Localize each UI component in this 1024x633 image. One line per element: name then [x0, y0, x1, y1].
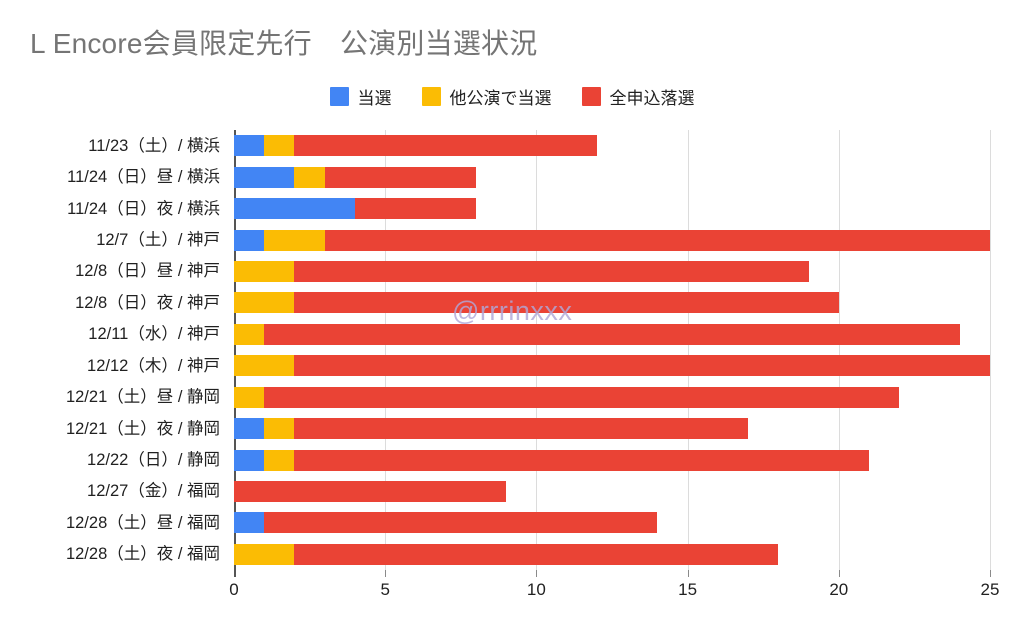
bar-segment[interactable] [294, 450, 869, 471]
bar-segment[interactable] [294, 292, 838, 313]
y-axis-category-labels: 11/23（土）/ 横浜11/24（日）昼 / 横浜11/24（日）夜 / 横浜… [0, 130, 228, 570]
bar-segment[interactable] [264, 135, 294, 156]
y-axis-tick-label: 12/11（水）/ 神戸 [0, 323, 228, 345]
bar-row[interactable] [234, 512, 990, 533]
y-axis-tick-label: 12/12（木）/ 神戸 [0, 355, 228, 377]
legend-item[interactable]: 当選 [330, 84, 392, 109]
gridline [990, 130, 991, 570]
x-axis-tick-mark [536, 570, 537, 577]
chart-container: L Encore会員限定先行 公演別当選状況 当選他公演で当選全申込落選 11/… [0, 0, 1024, 633]
bar-row[interactable] [234, 135, 990, 156]
x-axis-tick-label: 15 [678, 580, 697, 600]
bar-segment[interactable] [264, 512, 657, 533]
bar-row[interactable] [234, 544, 990, 565]
x-axis-tick-label: 0 [229, 580, 238, 600]
chart-title: L Encore会員限定先行 公演別当選状況 [30, 22, 537, 62]
bar-row[interactable] [234, 167, 990, 188]
y-axis-tick-label: 11/24（日）夜 / 横浜 [0, 198, 228, 220]
bar-row[interactable] [234, 230, 990, 251]
y-axis-tick-label: 11/24（日）昼 / 横浜 [0, 166, 228, 188]
y-axis-tick-label: 12/21（土）夜 / 静岡 [0, 418, 228, 440]
y-axis-tick-label: 12/7（土）/ 神戸 [0, 229, 228, 251]
y-axis-tick-label: 12/8（日）夜 / 神戸 [0, 292, 228, 314]
bar-row[interactable] [234, 355, 990, 376]
y-axis-tick-label: 12/28（土）夜 / 福岡 [0, 543, 228, 565]
legend-item-label: 他公演で当選 [450, 84, 552, 109]
bar-segment[interactable] [234, 292, 294, 313]
bar-segment[interactable] [264, 324, 960, 345]
x-axis: 0510152025 [234, 570, 990, 610]
bar-segment[interactable] [234, 167, 294, 188]
bar-segment[interactable] [234, 512, 264, 533]
x-axis-tick-label: 10 [527, 580, 546, 600]
legend-swatch-blue [330, 87, 349, 106]
y-axis-tick-label: 12/28（土）昼 / 福岡 [0, 512, 228, 534]
bar-segment[interactable] [234, 418, 264, 439]
legend-item-label: 全申込落選 [610, 84, 695, 109]
bar-segment[interactable] [234, 135, 264, 156]
bar-segment[interactable] [234, 324, 264, 345]
y-axis-tick-label: 12/8（日）昼 / 神戸 [0, 260, 228, 282]
y-axis-tick-label: 12/21（土）昼 / 静岡 [0, 386, 228, 408]
bar-row[interactable] [234, 387, 990, 408]
x-axis-tick-mark [990, 570, 991, 577]
legend-item[interactable]: 他公演で当選 [422, 84, 552, 109]
x-axis-tick-mark [234, 570, 236, 577]
bar-segment[interactable] [294, 261, 808, 282]
bar-segment[interactable] [234, 261, 294, 282]
bar-segment[interactable] [264, 230, 324, 251]
bar-row[interactable] [234, 292, 990, 313]
x-axis-tick-label: 20 [829, 580, 848, 600]
x-axis-tick-mark [385, 570, 386, 577]
bar-segment[interactable] [264, 387, 899, 408]
bar-segment[interactable] [294, 167, 324, 188]
bar-segment[interactable] [294, 418, 748, 439]
bar-segment[interactable] [234, 230, 264, 251]
bar-segment[interactable] [234, 481, 506, 502]
bar-segment[interactable] [325, 230, 990, 251]
legend-swatch-red [582, 87, 601, 106]
bar-segment[interactable] [234, 355, 294, 376]
bar-segment[interactable] [234, 387, 264, 408]
bar-segment[interactable] [234, 544, 294, 565]
legend-swatch-yellow [422, 87, 441, 106]
y-axis-tick-label: 12/22（日）/ 静岡 [0, 449, 228, 471]
x-axis-tick-mark [839, 570, 840, 577]
bar-segment[interactable] [294, 355, 990, 376]
legend-item-label: 当選 [358, 84, 392, 109]
legend-item[interactable]: 全申込落選 [582, 84, 695, 109]
bar-segment[interactable] [264, 418, 294, 439]
plot-area [234, 130, 990, 570]
bar-segment[interactable] [264, 450, 294, 471]
x-axis-tick-mark [688, 570, 689, 577]
bar-row[interactable] [234, 418, 990, 439]
bar-row[interactable] [234, 261, 990, 282]
bar-row[interactable] [234, 324, 990, 345]
bar-segment[interactable] [355, 198, 476, 219]
bar-row[interactable] [234, 450, 990, 471]
x-axis-tick-label: 5 [380, 580, 389, 600]
bar-segment[interactable] [294, 544, 778, 565]
bar-row[interactable] [234, 198, 990, 219]
bar-segment[interactable] [234, 198, 355, 219]
bar-segment[interactable] [234, 450, 264, 471]
y-axis-tick-label: 12/27（金）/ 福岡 [0, 480, 228, 502]
bar-segment[interactable] [294, 135, 596, 156]
chart-legend: 当選他公演で当選全申込落選 [0, 84, 1024, 109]
bar-segment[interactable] [325, 167, 476, 188]
bar-series-group [234, 130, 990, 570]
x-axis-tick-label: 25 [981, 580, 1000, 600]
bar-row[interactable] [234, 481, 990, 502]
y-axis-tick-label: 11/23（土）/ 横浜 [0, 135, 228, 157]
